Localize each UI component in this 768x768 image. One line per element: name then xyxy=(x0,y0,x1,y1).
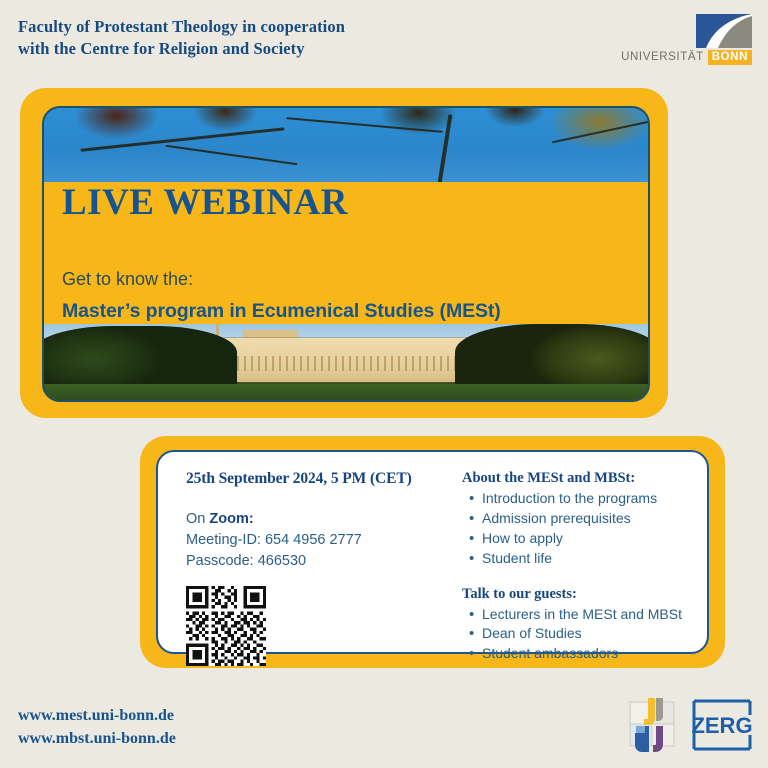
zrs-centre-logo xyxy=(626,696,682,754)
poster-page: Faculty of Protestant Theology in cooper… xyxy=(0,0,768,768)
faculty-title-line2: with the Centre for Religion and Society xyxy=(18,38,448,60)
banner-photo: LIVE WEBINAR Get to know the: Master’s p… xyxy=(42,106,650,402)
university-of-bonn-logo: UNIVERSITÄT BONN xyxy=(632,14,752,66)
header: Faculty of Protestant Theology in cooper… xyxy=(0,0,768,88)
mest-url[interactable]: www.mest.uni-bonn.de xyxy=(18,704,176,727)
list-item: Lecturers in the MESt and MBSt xyxy=(482,605,717,625)
footer-logos: ZERG xyxy=(626,696,754,754)
platform-name: Zoom: xyxy=(209,511,253,527)
tree-left xyxy=(44,326,237,392)
passcode: Passcode: 466530 xyxy=(186,551,446,572)
platform-line: On Zoom: xyxy=(186,509,446,530)
qr-code-icon[interactable] xyxy=(186,586,266,666)
event-datetime: 25th September 2024, 5 PM (CET) xyxy=(186,470,446,488)
list-item: Student ambassadors xyxy=(482,644,717,664)
university-wordmark: UNIVERSITÄT BONN xyxy=(621,50,752,65)
info-card-inner: 25th September 2024, 5 PM (CET) On Zoom:… xyxy=(156,450,709,654)
sky-with-branches xyxy=(44,108,648,186)
mbst-url[interactable]: www.mbst.uni-bonn.de xyxy=(18,727,176,750)
meeting-id: Meeting-ID: 654 4956 2777 xyxy=(186,530,446,551)
campus-building-photo xyxy=(44,324,648,400)
info-left-column: 25th September 2024, 5 PM (CET) On Zoom:… xyxy=(186,470,446,671)
info-right-column: About the MESt and MBSt: Introduction to… xyxy=(462,470,717,664)
about-list: Introduction to the programs Admission p… xyxy=(462,489,717,569)
list-item: Dean of Studies xyxy=(482,624,717,644)
platform-prefix: On xyxy=(186,511,209,527)
banner-card: LIVE WEBINAR Get to know the: Master’s p… xyxy=(20,88,668,418)
list-item: Introduction to the programs xyxy=(482,489,717,509)
faculty-title-line1: Faculty of Protestant Theology in cooper… xyxy=(18,16,448,38)
banner-title: LIVE WEBINAR xyxy=(62,184,348,221)
footer-urls: www.mest.uni-bonn.de www.mbst.uni-bonn.d… xyxy=(18,704,176,750)
spacer xyxy=(462,569,717,586)
list-item: Student life xyxy=(482,549,717,569)
bonn-seal-icon xyxy=(696,14,752,48)
info-card: 25th September 2024, 5 PM (CET) On Zoom:… xyxy=(140,436,725,668)
branch xyxy=(437,114,452,184)
banner-kicker: Get to know the: xyxy=(62,270,193,290)
branch xyxy=(165,145,297,165)
bonn-word: BONN xyxy=(708,50,752,65)
program-line-1: Master’s program in Ecumenical Studies (… xyxy=(62,300,501,323)
branch xyxy=(552,119,650,144)
university-word: UNIVERSITÄT xyxy=(621,50,708,65)
guests-heading: Talk to our guests: xyxy=(462,586,717,603)
zerg-logo: ZERG xyxy=(690,696,754,754)
lawn xyxy=(44,384,648,400)
footer: www.mest.uni-bonn.de www.mbst.uni-bonn.d… xyxy=(0,676,768,768)
list-item: How to apply xyxy=(482,529,717,549)
guests-list: Lecturers in the MESt and MBSt Dean of S… xyxy=(462,605,717,665)
list-item: Admission prerequisites xyxy=(482,509,717,529)
about-heading: About the MESt and MBSt: xyxy=(462,470,717,487)
building-facade xyxy=(225,338,467,382)
info-columns: 25th September 2024, 5 PM (CET) On Zoom:… xyxy=(158,452,707,652)
branch xyxy=(286,117,443,133)
faculty-title: Faculty of Protestant Theology in cooper… xyxy=(18,16,448,61)
zerg-wordmark: ZERG xyxy=(691,713,752,738)
